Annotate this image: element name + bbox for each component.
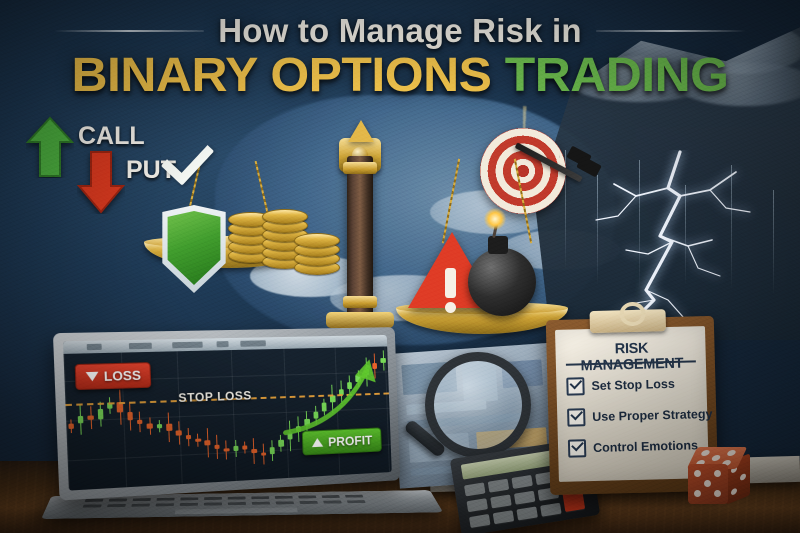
arrow-up-icon: [312, 438, 324, 447]
scale-finial: [348, 120, 374, 142]
page-title: How to Manage Risk in: [218, 12, 582, 50]
call-label: CALL: [78, 122, 145, 151]
stop-loss-label: STOP LOSS: [178, 388, 252, 405]
checklist-item-set-stop-loss[interactable]: Set Stop Loss: [566, 375, 675, 396]
scale-column: [347, 156, 373, 316]
arrow-down-icon: [77, 148, 125, 214]
exclamation-bar: [445, 268, 456, 298]
dice-front-face: [688, 464, 728, 504]
laptop: STOP LOSS LOSS PROFIT: [48, 330, 438, 530]
checklist-heading: RISK MANAGEMENT: [567, 339, 696, 374]
checklist-item-label: Control Emotions: [593, 438, 698, 455]
checkbox-checked-icon[interactable]: [567, 408, 585, 426]
dice-icon: [688, 447, 750, 505]
arrow-down-icon: [86, 372, 99, 382]
laptop-screen-bezel: STOP LOSS LOSS PROFIT: [53, 327, 400, 500]
trading-chart-screen[interactable]: STOP LOSS LOSS PROFIT: [63, 335, 392, 491]
shield-inner: [164, 211, 224, 285]
subtitle-part-trading: TRADING: [505, 49, 729, 102]
checklist-item-use-proper-strategy[interactable]: Use Proper Strategy: [567, 405, 713, 427]
loss-badge-label: LOSS: [104, 368, 142, 385]
column-band: [343, 296, 377, 308]
profit-badge-label: PROFIT: [328, 433, 373, 450]
lightning-bolt-icon: [584, 150, 794, 325]
magnifying-glass-icon: [425, 352, 531, 458]
checklist-item-label: Use Proper Strategy: [592, 407, 713, 424]
chain-right-a: [442, 159, 460, 244]
title-rule-left: [54, 30, 204, 32]
checkbox-checked-icon[interactable]: [566, 377, 584, 395]
page-subtitle: BINARY OPTIONS TRADING: [0, 48, 800, 103]
uptrend-arrow-icon: [279, 357, 385, 439]
exclamation-dot: [445, 302, 456, 313]
bomb-neck: [488, 236, 508, 254]
poster-title-block: How to Manage Risk in BINARY OPTIONS TRA…: [0, 12, 800, 103]
checklist-item-control-emotions[interactable]: Control Emotions: [568, 436, 698, 457]
balance-scale: [150, 120, 570, 335]
clipboard-paper: RISK MANAGEMENT Set Stop Loss Use Proper…: [555, 326, 709, 482]
shield-check-icon: [158, 205, 230, 293]
checklist-item-label: Set Stop Loss: [591, 377, 675, 393]
column-band: [343, 162, 377, 174]
arrow-up-icon: [26, 116, 74, 178]
loss-badge: LOSS: [75, 362, 152, 390]
title-kicker-row: How to Manage Risk in: [0, 12, 800, 50]
checkbox-checked-icon[interactable]: [568, 439, 586, 457]
profit-badge: PROFIT: [302, 427, 382, 455]
subtitle-part-binary-options: BINARY OPTIONS: [72, 49, 492, 102]
bomb-icon: [468, 248, 536, 316]
scale-base: [326, 312, 394, 328]
title-rule-right: [596, 30, 746, 32]
poster-canvas: How to Manage Risk in BINARY OPTIONS TRA…: [0, 0, 800, 533]
checkmark-icon: [161, 131, 214, 185]
spark-icon: [484, 208, 506, 230]
